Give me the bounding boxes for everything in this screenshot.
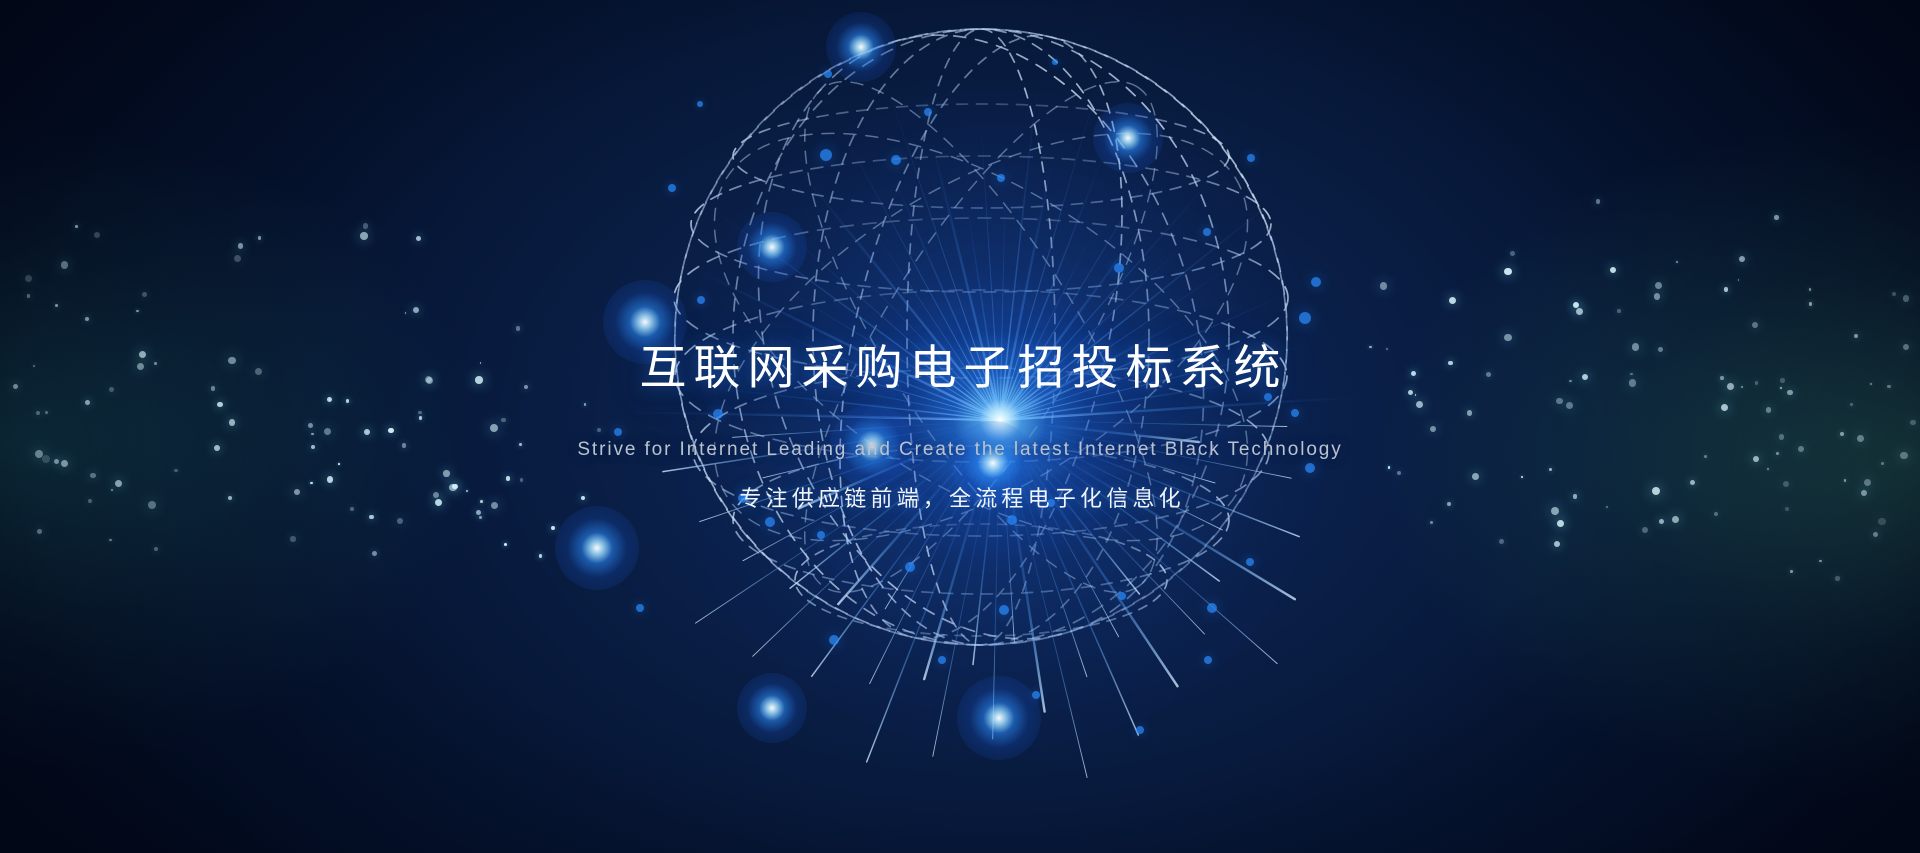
hero-tagline: 专注供应链前端，全流程电子化信息化 [735, 488, 1185, 510]
hero-subtitle: Strive for Internet Leading and Create t… [577, 440, 1342, 459]
hero-text-block: 互联网采购电子招投标系统 Strive for Internet Leading… [0, 0, 1920, 853]
hero-banner: 互联网采购电子招投标系统 Strive for Internet Leading… [0, 0, 1920, 853]
hero-title: 互联网采购电子招投标系统 [633, 344, 1288, 391]
